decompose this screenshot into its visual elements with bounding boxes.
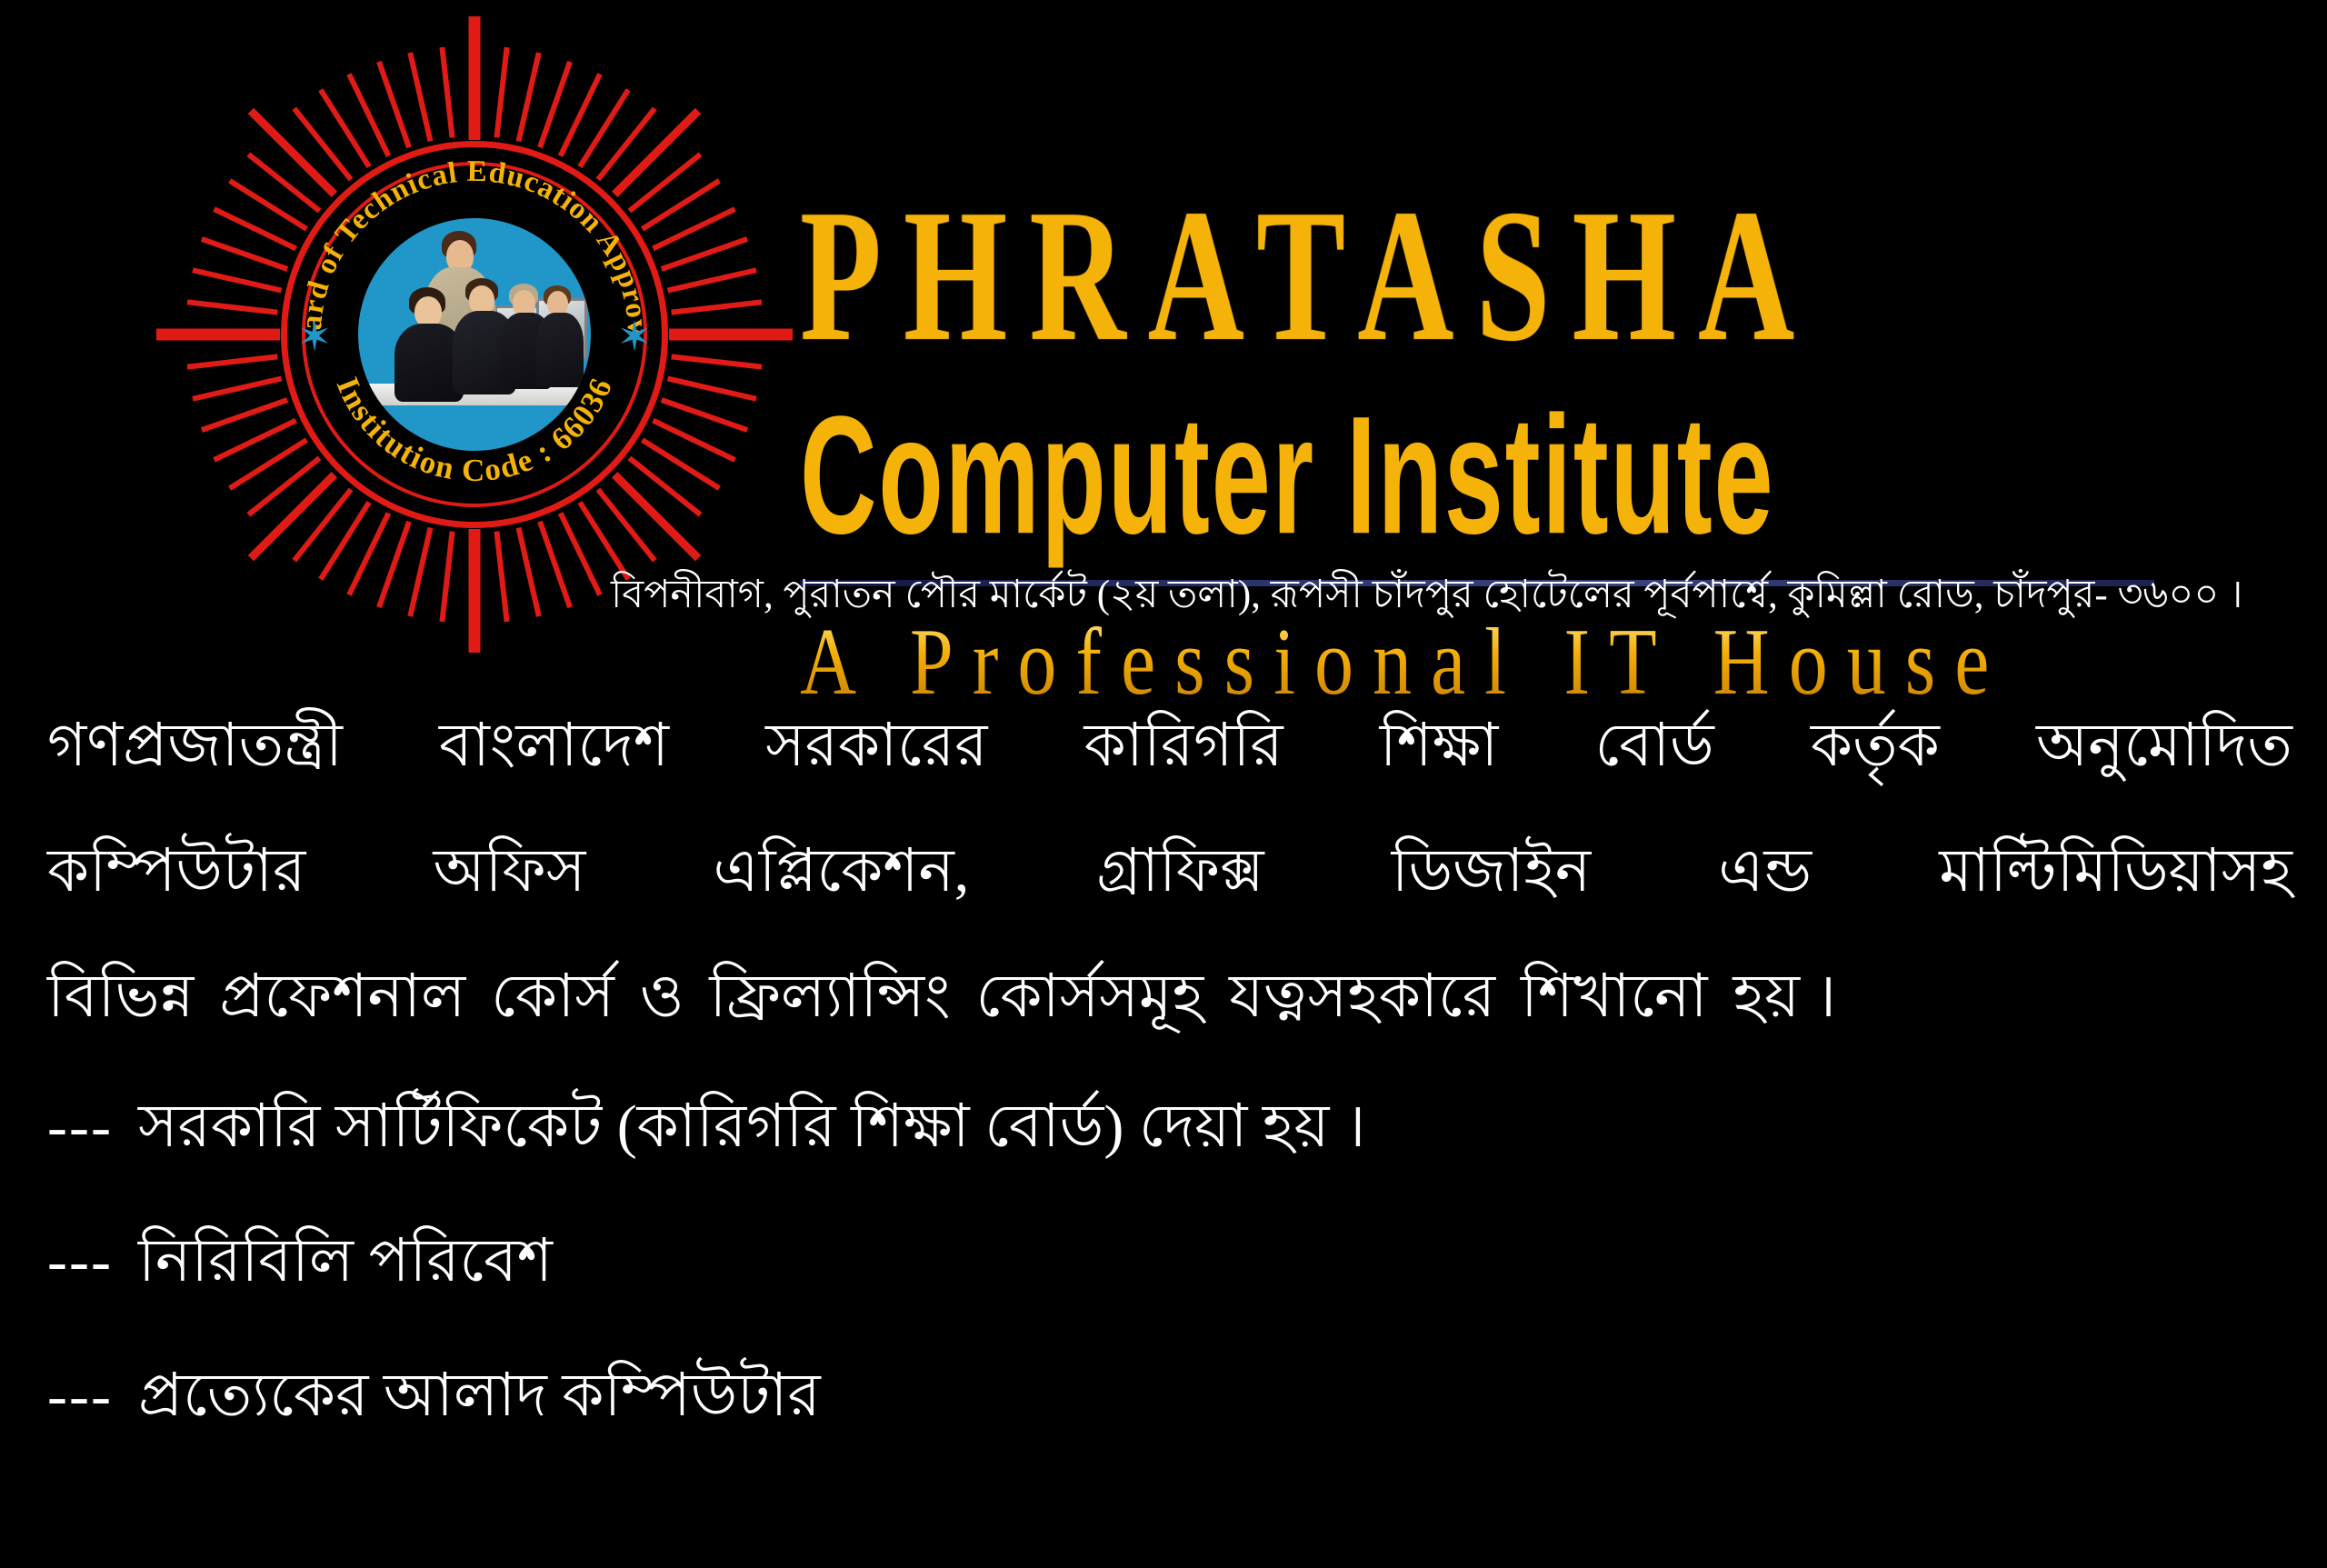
body-word: এন্ড xyxy=(1718,809,1812,934)
logo-photo-disc xyxy=(358,218,591,451)
body-word: অফিস xyxy=(433,809,585,934)
brand-subtitle: Computer Institute xyxy=(800,391,2150,559)
bullet-text: সরকারি সার্টিফিকেট (কারিগরি শিক্ষা বোর্ড… xyxy=(138,1094,1366,1160)
body-word: প্রফেশনাল xyxy=(219,934,465,1060)
body-word: কোর্সসমূহ xyxy=(976,934,1204,1060)
students-at-computers-photo xyxy=(358,218,591,451)
body-word: ফ্রিল্যান্সিং xyxy=(709,934,950,1060)
body-word: অনুমোদিত xyxy=(2036,684,2292,809)
body-word: শিক্ষা xyxy=(1380,684,1499,809)
body-word: শিখানো xyxy=(1521,934,1707,1060)
body-word: কোর্স xyxy=(491,934,614,1060)
body-word: হয় । xyxy=(1733,934,1836,1060)
body-word: বোর্ড xyxy=(1595,684,1714,809)
body-word: সরকারের xyxy=(765,684,987,809)
body-word: যত্নসহকারে xyxy=(1229,934,1495,1060)
body-bullet-line: ---প্রত্যেকের আলাদ কম্পিউটার xyxy=(47,1329,2292,1463)
bullet-text: প্রত্যেকের আলাদ কম্পিউটার xyxy=(138,1363,821,1429)
body-word: কারিগরি xyxy=(1084,684,1283,809)
body-paragraph-line: গণপ্রজাতন্ত্রীবাংলাদেশসরকারেরকারিগরিশিক্… xyxy=(47,684,2292,809)
bullet-marker: --- xyxy=(47,1194,113,1329)
logo-star-left-icon: ✶ xyxy=(295,316,335,356)
body-bullet-line: ---নিরিবিলি পরিবেশ xyxy=(47,1194,2292,1329)
institute-logo: Board of Technical Education Approved In… xyxy=(156,16,793,653)
logo-star-right-icon: ✶ xyxy=(614,316,654,356)
body-word: কম্পিউটার xyxy=(47,809,305,934)
body-word: কর্তৃক xyxy=(1811,684,1940,809)
advertisement-banner: Board of Technical Education Approved In… xyxy=(0,0,2327,1568)
bullet-marker: --- xyxy=(47,1060,113,1194)
body-word: বাংলাদেশ xyxy=(439,684,669,809)
body-word: এপ্লিকেশন, xyxy=(713,809,969,934)
body-paragraph-line: বিভিন্নপ্রফেশনালকোর্সওফ্রিল্যান্সিংকোর্স… xyxy=(47,934,2292,1060)
body-word: ও xyxy=(640,934,684,1060)
institute-address: বিপনীবাগ, পুরাতন পৌর মার্কেট (২য় তলা), … xyxy=(611,571,2311,620)
body-word: বিভিন্ন xyxy=(47,934,194,1060)
banner-body-copy: গণপ্রজাতন্ত্রীবাংলাদেশসরকারেরকারিগরিশিক্… xyxy=(47,684,2292,1463)
brand-name: PHRATASHA xyxy=(800,182,2195,372)
bullet-marker: --- xyxy=(47,1329,113,1463)
body-word: গণপ্রজাতন্ত্রী xyxy=(47,684,343,809)
body-bullet-line: ---সরকারি সার্টিফিকেট (কারিগরি শিক্ষা বো… xyxy=(47,1060,2292,1194)
bullet-text: নিরিবিলি পরিবেশ xyxy=(138,1228,553,1294)
banner-header: Board of Technical Education Approved In… xyxy=(0,0,2327,654)
body-paragraph-line: কম্পিউটারঅফিসএপ্লিকেশন,গ্রাফিক্সডিজাইনএন… xyxy=(47,809,2292,934)
body-word: মাল্টিমিডিয়াসহ xyxy=(1939,809,2292,934)
body-word: গ্রাফিক্স xyxy=(1096,809,1263,934)
body-word: ডিজাইন xyxy=(1392,809,1591,934)
